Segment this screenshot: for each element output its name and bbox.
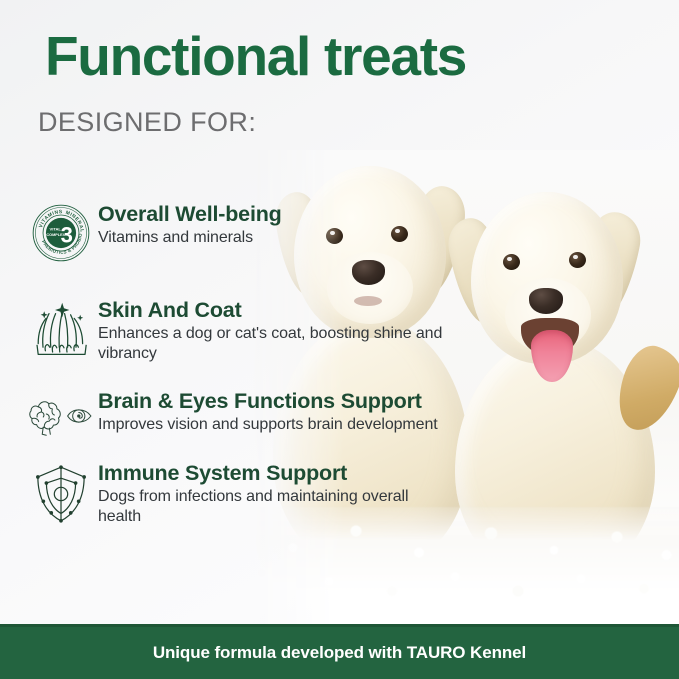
footer-banner: Unique formula developed with TAURO Kenn… [0, 627, 679, 679]
feature-title: Overall Well-being [98, 202, 444, 226]
brain-and-eye-icon [24, 387, 98, 441]
page-title: Functional treats [45, 24, 466, 88]
feature-list: VITAMINS MINERALS PREBIOTICS & PROBIOTIC… [24, 200, 444, 540]
footer-text: Unique formula developed with TAURO Kenn… [153, 643, 526, 663]
list-item: Skin And Coat Enhances a dog or cat's co… [24, 296, 444, 363]
feature-title: Immune System Support [98, 461, 444, 485]
immune-shield-icon [24, 459, 98, 525]
feature-title: Brain & Eyes Functions Support [98, 389, 444, 413]
feature-description: Improves vision and supports brain devel… [98, 415, 444, 435]
list-item: Brain & Eyes Functions Support Improves … [24, 387, 444, 441]
list-item: VITAMINS MINERALS PREBIOTICS & PROBIOTIC… [24, 200, 444, 262]
feature-description: Enhances a dog or cat's coat, boosting s… [98, 324, 444, 363]
skin-and-coat-fur-icon [24, 296, 98, 356]
svg-text:VITAL: VITAL [50, 227, 62, 232]
product-infographic-poster: Functional treats DESIGNED FOR: VITAMINS [0, 0, 679, 679]
feature-description: Vitamins and minerals [98, 228, 444, 248]
page-subtitle: DESIGNED FOR: [38, 107, 256, 138]
list-item: Immune System Support Dogs from infectio… [24, 459, 444, 526]
vital-complex-badge-icon: VITAMINS MINERALS PREBIOTICS & PROBIOTIC… [24, 200, 98, 262]
svg-text:COMPLEX: COMPLEX [46, 233, 65, 237]
feature-description: Dogs from infections and maintaining ove… [98, 487, 444, 526]
feature-title: Skin And Coat [98, 298, 444, 322]
